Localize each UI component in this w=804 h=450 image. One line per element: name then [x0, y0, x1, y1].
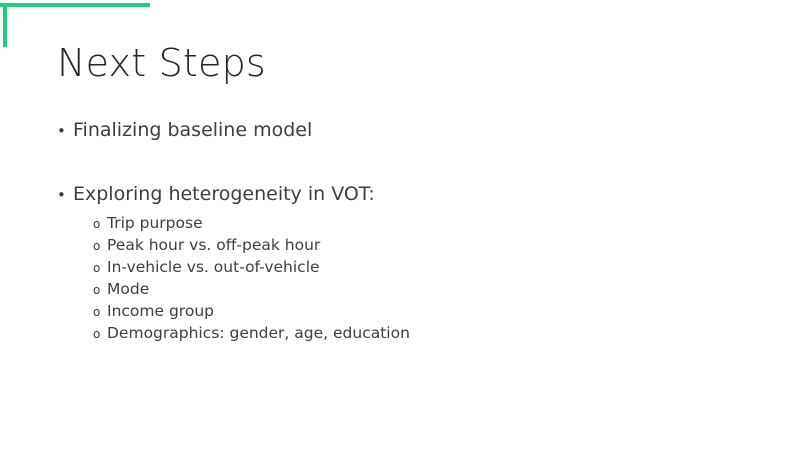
sub-bullet-text: In-vehicle vs. out-of-vehicle: [107, 260, 320, 276]
slide-canvas: Next Steps • Finalizing baseline model •…: [0, 0, 804, 450]
sub-bullet-marker-icon: o: [93, 328, 107, 340]
bracket-top-left-vertical-bar: [3, 3, 7, 47]
sub-bullet-text: Mode: [107, 282, 149, 298]
bullet-text: Finalizing baseline model: [73, 118, 312, 144]
bullet-text: Exploring heterogeneity in VOT:: [73, 182, 375, 208]
sub-bullet-marker-icon: o: [93, 218, 107, 230]
bullet-marker-icon: •: [57, 124, 73, 139]
sub-bullet-item: o Income group: [93, 301, 747, 323]
sub-bullet-text: Income group: [107, 304, 214, 320]
bracket-top-left-horizontal-bar: [0, 3, 150, 7]
slide-body: • Finalizing baseline model • Exploring …: [57, 118, 747, 345]
sub-bullet-item: o Demographics: gender, age, education: [93, 323, 747, 345]
sub-bullet-marker-icon: o: [93, 262, 107, 274]
sub-bullet-item: o Trip purpose: [93, 213, 747, 235]
sub-bullet-text: Demographics: gender, age, education: [107, 326, 410, 342]
sub-bullet-list: o Trip purpose o Peak hour vs. off-peak …: [57, 213, 747, 344]
sub-bullet-marker-icon: o: [93, 240, 107, 252]
bullet-spacer: [57, 144, 747, 182]
sub-bullet-text: Trip purpose: [107, 216, 203, 232]
slide-title: Next Steps: [57, 42, 266, 86]
sub-bullet-item: o Mode: [93, 279, 747, 301]
bullet-marker-icon: •: [57, 188, 73, 203]
sub-bullet-item: o Peak hour vs. off-peak hour: [93, 235, 747, 257]
sub-bullet-marker-icon: o: [93, 306, 107, 318]
bullet-item: • Exploring heterogeneity in VOT:: [57, 182, 747, 208]
sub-bullet-marker-icon: o: [93, 284, 107, 296]
sub-bullet-text: Peak hour vs. off-peak hour: [107, 238, 320, 254]
bullet-item: • Finalizing baseline model: [57, 118, 747, 144]
sub-bullet-item: o In-vehicle vs. out-of-vehicle: [93, 257, 747, 279]
